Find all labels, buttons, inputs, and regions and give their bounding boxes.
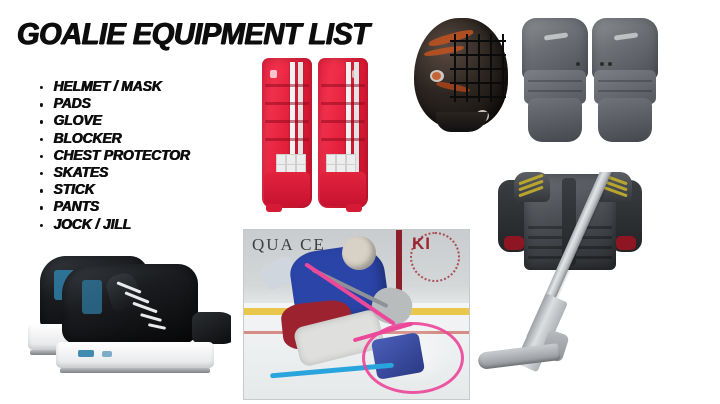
list-item: BLOCKER xyxy=(40,131,190,148)
strap-stud xyxy=(600,62,604,66)
pad-roll xyxy=(265,102,309,105)
goalie-in-action-photo: QUA CE KI xyxy=(243,229,470,400)
list-item-label: JOCK / JILL xyxy=(54,217,132,233)
skate-blade-front xyxy=(60,368,210,373)
bullet-icon xyxy=(40,138,43,141)
list-item: HELMET / MASK xyxy=(40,79,190,96)
sponsor-logo-text: KI xyxy=(412,234,431,254)
bullet-icon xyxy=(40,155,43,158)
leg-pad-right xyxy=(318,58,368,208)
poster-root: GOALIE EQUIPMENT LIST HELMET / MASK PADS… xyxy=(0,0,720,404)
goalie-knee-pads-image xyxy=(520,18,665,144)
pad-roll xyxy=(265,138,309,141)
knee-section xyxy=(598,98,652,142)
equipment-list: HELMET / MASK PADS GLOVE BLOCKER CHEST P… xyxy=(40,79,195,234)
list-item-label: GLOVE xyxy=(54,113,102,129)
goalie-skates-image xyxy=(26,250,231,390)
pad-logo xyxy=(270,70,277,78)
goalie-helmet-image xyxy=(406,8,518,140)
helmet-cage-icon xyxy=(450,34,506,102)
knee-section xyxy=(528,98,582,142)
skate-toe-cap xyxy=(192,312,231,344)
pad-roll xyxy=(321,120,365,123)
pad-roll xyxy=(265,84,309,87)
pad-roll xyxy=(321,102,365,105)
page-title: GOALIE EQUIPMENT LIST xyxy=(17,17,369,51)
stick-blade xyxy=(477,343,560,370)
bullet-icon xyxy=(40,189,43,192)
list-item-label: CHEST PROTECTOR xyxy=(54,148,190,164)
list-item-label: PANTS xyxy=(54,199,100,215)
bullet-icon xyxy=(40,103,43,106)
goalie-stick-image xyxy=(470,172,720,396)
skate-cowling-front xyxy=(56,342,214,368)
annotation-circle xyxy=(362,322,464,394)
goalie-leg-pads-image xyxy=(256,52,378,230)
pad-roll xyxy=(321,138,365,141)
bullet-icon xyxy=(40,206,43,209)
list-item: CHEST PROTECTOR xyxy=(40,148,190,165)
list-item-label: BLOCKER xyxy=(54,131,122,147)
list-item: SKATES xyxy=(40,165,190,182)
pad-knee-block xyxy=(320,172,366,206)
list-item: JOCK / JILL xyxy=(40,217,190,234)
photo-goalie-helmet xyxy=(342,236,376,270)
helmet-chin xyxy=(436,112,488,132)
list-item: PANTS xyxy=(40,199,190,216)
pad-toe xyxy=(346,204,362,212)
bullet-icon xyxy=(40,224,43,227)
pad-roll xyxy=(321,84,365,87)
brand-swoosh-icon xyxy=(614,32,638,40)
list-item-label: SKATES xyxy=(54,165,109,181)
list-item: STICK xyxy=(40,182,190,199)
list-item-label: STICK xyxy=(54,182,95,198)
bullet-icon xyxy=(40,120,43,123)
skate-boot-front xyxy=(62,264,198,344)
helmet-graphic xyxy=(432,72,441,80)
leg-pad-left xyxy=(262,58,312,208)
list-item: PADS xyxy=(40,96,190,113)
bullet-icon xyxy=(40,172,43,175)
list-item-label: HELMET / MASK xyxy=(54,79,162,95)
strap-stud xyxy=(608,62,612,66)
brand-swoosh-icon xyxy=(544,32,568,40)
bullet-icon xyxy=(40,86,43,89)
list-item: GLOVE xyxy=(40,113,190,130)
pad-knee-block xyxy=(264,172,310,206)
knee-pad-right xyxy=(592,18,658,142)
pad-toe xyxy=(266,204,282,212)
list-item-label: PADS xyxy=(54,96,91,112)
knee-pad-left xyxy=(522,18,588,142)
strap-stud xyxy=(576,62,580,66)
pad-roll xyxy=(265,120,309,123)
